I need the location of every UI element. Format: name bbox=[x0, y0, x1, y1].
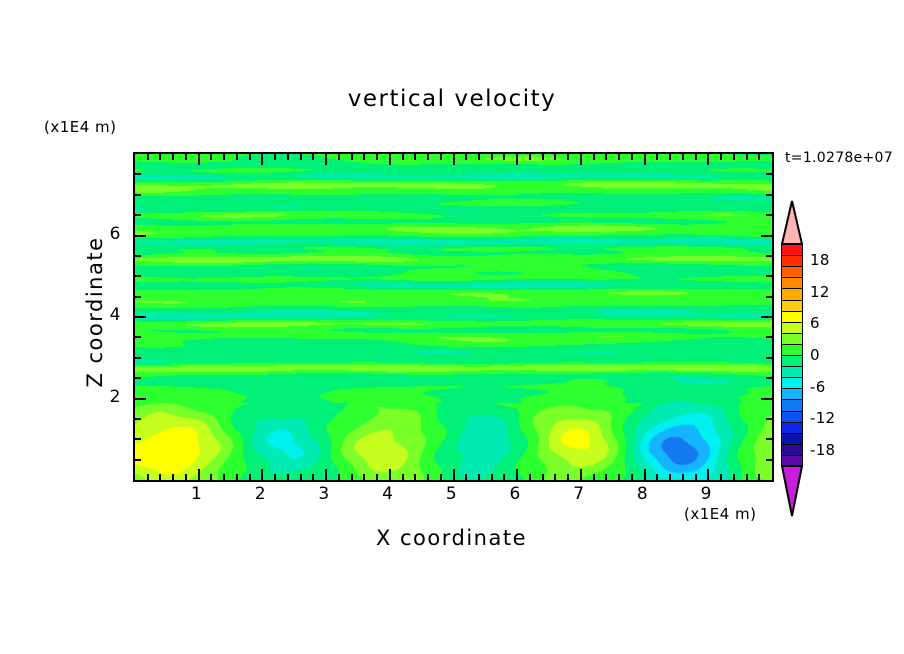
colorbar-tick-label: -12 bbox=[810, 409, 835, 427]
axis-tick bbox=[766, 173, 772, 175]
axis-tick bbox=[733, 474, 735, 480]
axis-tick bbox=[198, 154, 200, 165]
axis-tick bbox=[746, 154, 748, 160]
axis-tick bbox=[766, 459, 772, 461]
colorbar-tick-label: 12 bbox=[810, 283, 830, 301]
axis-tick bbox=[172, 154, 174, 160]
axis-tick bbox=[542, 474, 544, 480]
axis-tick bbox=[363, 474, 365, 480]
axis-tick bbox=[351, 474, 353, 480]
x-tick-label: 7 bbox=[573, 484, 584, 504]
axis-tick bbox=[236, 474, 238, 480]
axis-tick bbox=[363, 154, 365, 160]
axis-tick bbox=[312, 154, 314, 160]
x-axis-unit-label: (x1E4 m) bbox=[684, 505, 757, 523]
axis-tick bbox=[402, 154, 404, 160]
axis-tick bbox=[567, 154, 569, 160]
axis-tick bbox=[766, 255, 772, 257]
axis-tick bbox=[210, 474, 212, 480]
x-axis-title: X coordinate bbox=[133, 526, 770, 550]
axis-tick bbox=[580, 154, 582, 165]
axis-tick bbox=[376, 474, 378, 480]
axis-tick bbox=[656, 474, 658, 480]
axis-tick bbox=[338, 474, 340, 480]
axis-tick bbox=[529, 154, 531, 160]
axis-tick bbox=[135, 214, 141, 216]
axis-tick bbox=[236, 154, 238, 160]
axis-tick bbox=[223, 474, 225, 480]
colorbar-under-arrow bbox=[781, 465, 803, 517]
x-tick-label: 3 bbox=[318, 484, 329, 504]
time-annotation: t=1.0278e+07 bbox=[785, 150, 893, 166]
axis-tick bbox=[682, 154, 684, 160]
axis-tick bbox=[135, 255, 141, 257]
axis-tick bbox=[669, 474, 671, 480]
axis-tick bbox=[135, 336, 141, 338]
axis-tick bbox=[766, 357, 772, 359]
axis-tick bbox=[249, 474, 251, 480]
axis-tick bbox=[761, 235, 772, 237]
x-tick-label: 6 bbox=[510, 484, 521, 504]
page-title: vertical velocity bbox=[0, 86, 904, 112]
axis-tick bbox=[503, 474, 505, 480]
colorbar bbox=[781, 244, 803, 466]
axis-tick bbox=[287, 154, 289, 160]
z-axis-unit-label: (x1E4 m) bbox=[44, 118, 117, 136]
axis-tick bbox=[516, 154, 518, 165]
axis-tick bbox=[491, 154, 493, 160]
axis-tick bbox=[766, 194, 772, 196]
axis-tick bbox=[761, 398, 772, 400]
axis-tick bbox=[414, 154, 416, 160]
axis-tick bbox=[580, 469, 582, 480]
axis-tick bbox=[465, 474, 467, 480]
axis-tick bbox=[172, 474, 174, 480]
axis-tick bbox=[287, 474, 289, 480]
axis-tick bbox=[766, 438, 772, 440]
axis-tick bbox=[427, 474, 429, 480]
axis-tick bbox=[758, 154, 760, 160]
axis-tick bbox=[478, 154, 480, 160]
axis-tick bbox=[135, 235, 146, 237]
axis-tick bbox=[529, 474, 531, 480]
axis-tick bbox=[147, 154, 149, 160]
x-tick-label: 4 bbox=[382, 484, 393, 504]
axis-tick bbox=[376, 154, 378, 160]
contour-plot-area bbox=[133, 152, 774, 482]
axis-tick bbox=[135, 357, 141, 359]
axis-tick bbox=[135, 398, 146, 400]
axis-tick bbox=[389, 154, 391, 165]
axis-tick bbox=[758, 474, 760, 480]
axis-tick bbox=[261, 469, 263, 480]
axis-tick bbox=[644, 154, 646, 165]
colorbar-tick-label: 0 bbox=[810, 346, 820, 364]
axis-tick bbox=[414, 474, 416, 480]
axis-tick bbox=[746, 474, 748, 480]
axis-tick bbox=[465, 154, 467, 160]
axis-tick bbox=[567, 474, 569, 480]
axis-tick bbox=[593, 154, 595, 160]
axis-tick bbox=[593, 474, 595, 480]
axis-tick bbox=[223, 154, 225, 160]
axis-tick bbox=[733, 154, 735, 160]
y-tick-label: 4 bbox=[91, 305, 121, 325]
axis-tick bbox=[761, 316, 772, 318]
axis-tick bbox=[766, 377, 772, 379]
axis-tick bbox=[695, 474, 697, 480]
axis-tick bbox=[503, 154, 505, 160]
figure-root: vertical velocity (x1E4 m) t=1.0278e+07 … bbox=[0, 0, 904, 654]
contour-field bbox=[135, 154, 772, 480]
axis-tick bbox=[453, 154, 455, 165]
axis-tick bbox=[185, 154, 187, 160]
axis-tick bbox=[274, 474, 276, 480]
axis-tick bbox=[542, 154, 544, 160]
axis-tick bbox=[210, 154, 212, 160]
axis-tick bbox=[135, 316, 146, 318]
axis-tick bbox=[185, 474, 187, 480]
axis-tick bbox=[631, 474, 633, 480]
axis-tick bbox=[427, 154, 429, 160]
axis-tick bbox=[135, 377, 141, 379]
axis-tick bbox=[682, 474, 684, 480]
colorbar-tick-label: 6 bbox=[810, 314, 820, 332]
axis-tick bbox=[554, 474, 556, 480]
x-tick-label: 1 bbox=[191, 484, 202, 504]
axis-tick bbox=[389, 469, 391, 480]
colorbar-over-arrow bbox=[781, 200, 803, 245]
axis-tick bbox=[707, 469, 709, 480]
axis-tick bbox=[147, 474, 149, 480]
axis-tick bbox=[491, 474, 493, 480]
axis-tick bbox=[453, 469, 455, 480]
axis-tick bbox=[135, 438, 141, 440]
axis-tick bbox=[618, 474, 620, 480]
axis-tick bbox=[312, 474, 314, 480]
axis-tick bbox=[516, 469, 518, 480]
axis-tick bbox=[351, 154, 353, 160]
axis-tick bbox=[159, 474, 161, 480]
axis-tick bbox=[249, 154, 251, 160]
axis-tick bbox=[766, 214, 772, 216]
axis-tick bbox=[766, 418, 772, 420]
axis-tick bbox=[300, 154, 302, 160]
x-tick-label: 2 bbox=[255, 484, 266, 504]
axis-tick bbox=[554, 154, 556, 160]
axis-tick bbox=[605, 154, 607, 160]
axis-tick bbox=[440, 474, 442, 480]
axis-tick bbox=[656, 154, 658, 160]
x-tick-label: 5 bbox=[446, 484, 457, 504]
axis-tick bbox=[135, 296, 141, 298]
axis-tick bbox=[695, 154, 697, 160]
colorbar-tick-label: -18 bbox=[810, 441, 835, 459]
axis-tick bbox=[631, 154, 633, 160]
axis-tick bbox=[707, 154, 709, 165]
axis-tick bbox=[274, 154, 276, 160]
axis-tick bbox=[440, 154, 442, 160]
colorbar-tick-label: -6 bbox=[810, 378, 826, 396]
axis-tick bbox=[720, 474, 722, 480]
axis-tick bbox=[159, 154, 161, 160]
axis-tick bbox=[135, 173, 141, 175]
axis-tick bbox=[135, 459, 141, 461]
axis-tick bbox=[338, 154, 340, 160]
colorbar-tick-label: 18 bbox=[810, 251, 830, 269]
axis-tick bbox=[325, 469, 327, 480]
x-tick-label: 9 bbox=[701, 484, 712, 504]
axis-tick bbox=[605, 474, 607, 480]
axis-tick bbox=[478, 474, 480, 480]
axis-tick bbox=[135, 194, 141, 196]
axis-tick bbox=[669, 154, 671, 160]
axis-tick bbox=[720, 154, 722, 160]
y-tick-label: 2 bbox=[91, 387, 121, 407]
axis-tick bbox=[261, 154, 263, 165]
x-tick-label: 8 bbox=[637, 484, 648, 504]
axis-tick bbox=[300, 474, 302, 480]
axis-tick bbox=[135, 275, 141, 277]
axis-tick bbox=[766, 336, 772, 338]
y-tick-label: 6 bbox=[91, 224, 121, 244]
axis-tick bbox=[402, 474, 404, 480]
axis-tick bbox=[766, 275, 772, 277]
axis-tick bbox=[618, 154, 620, 160]
axis-tick bbox=[644, 469, 646, 480]
axis-tick bbox=[135, 418, 141, 420]
axis-tick bbox=[198, 469, 200, 480]
axis-tick bbox=[766, 296, 772, 298]
axis-tick bbox=[325, 154, 327, 165]
